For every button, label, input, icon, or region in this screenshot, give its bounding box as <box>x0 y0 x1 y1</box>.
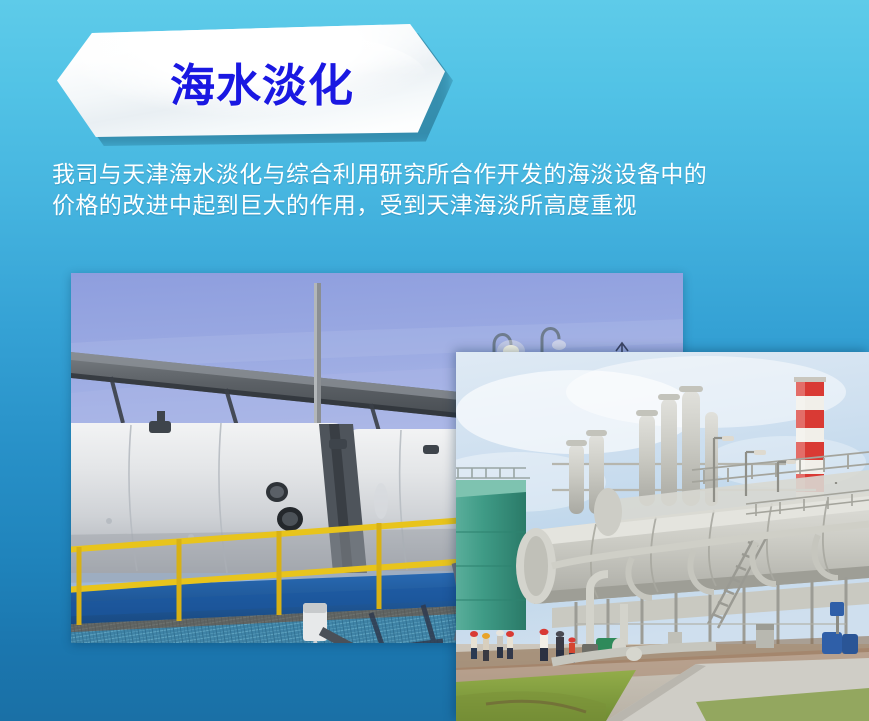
title-banner: 海水淡化 <box>57 24 445 137</box>
description-line-2: 价格的改进中起到巨大的作用，受到天津海淡所高度重视 <box>52 191 869 222</box>
med-plant-photo <box>456 352 869 721</box>
slide-root: 海水淡化 我司与天津海水淡化与综合利用研究所合作开发的海淡设备中的 价格的改进中… <box>0 0 869 721</box>
page-title: 海水淡化 <box>57 24 445 137</box>
photo-2-artwork <box>456 352 869 721</box>
description-line-1: 我司与天津海水淡化与综合利用研究所合作开发的海淡设备中的 <box>52 160 869 191</box>
description-text: 我司与天津海水淡化与综合利用研究所合作开发的海淡设备中的 价格的改进中起到巨大的… <box>52 160 869 222</box>
